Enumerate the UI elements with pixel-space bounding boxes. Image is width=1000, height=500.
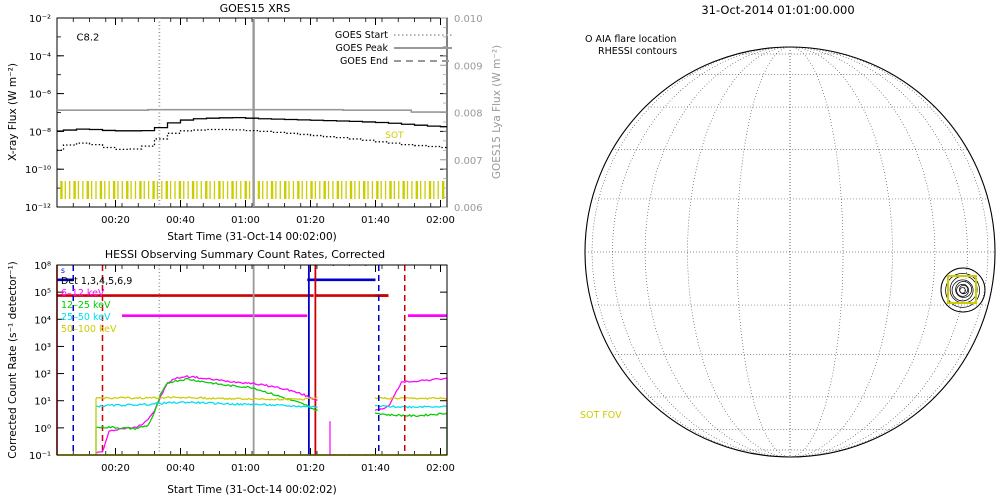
hessi-plot: HESSI Observing Summary Count Rates, Cor…: [0, 245, 510, 500]
sot-coverage-tick: [249, 181, 250, 199]
sot-coverage-tick: [438, 181, 439, 199]
sot-coverage-tick: [100, 181, 102, 199]
sot-coverage-tick: [240, 181, 241, 199]
sot-coverage-tick: [341, 181, 342, 199]
sot-coverage-tick: [363, 181, 365, 199]
hessi-data-gap: [318, 266, 375, 454]
sot-coverage-tick: [332, 181, 333, 199]
sot-coverage-tick: [148, 181, 149, 199]
goes-y-tick-label: 10⁻¹²: [25, 203, 51, 214]
hessi-y-axis-label: Corrected Count Rate (s⁻¹ detector⁻¹): [7, 261, 19, 459]
legend-label-goes-end: GOES End: [340, 56, 388, 67]
sot-coverage-tick: [227, 181, 228, 199]
hessi-x-tick-label: 01:00: [231, 463, 260, 474]
goes-y-tick-label: 10⁻¹⁰: [25, 165, 51, 176]
hessi-x-tick-label: 02:00: [426, 463, 455, 474]
sot-coverage-tick: [152, 181, 154, 199]
sot-coverage-tick: [69, 181, 70, 199]
sot-coverage-tick: [350, 181, 352, 199]
sot-coverage-tick: [201, 181, 202, 199]
sot-coverage-tick: [306, 181, 307, 199]
sot-coverage-tick: [214, 181, 215, 199]
goes-x-tick-label: 01:40: [361, 215, 390, 226]
sot-coverage-tick: [73, 181, 75, 199]
goes-x-tick-label: 00:40: [166, 215, 195, 226]
sot-coverage-tick: [315, 181, 316, 199]
sot-coverage-tick: [104, 181, 105, 199]
sot-coverage-tick: [262, 181, 263, 199]
sot-coverage-tick: [113, 181, 115, 199]
sot-coverage-tick: [297, 181, 299, 199]
sot-coverage-tick: [302, 181, 303, 199]
sot-coverage-tick: [402, 181, 404, 199]
sot-coverage-tick: [223, 181, 224, 199]
sot-coverage-tick: [293, 181, 294, 199]
sot-coverage-tick: [258, 181, 260, 199]
hessi-band-label-50-100: 50–100 keV: [61, 324, 117, 335]
sot-coverage-tick: [87, 181, 89, 199]
sot-coverage-tick: [179, 181, 181, 199]
sot-coverage-tick: [192, 181, 194, 199]
sot-coverage-tick: [275, 181, 276, 199]
rhessi-contours-annotation: RHESSI contours: [598, 46, 677, 57]
sot-coverage-tick: [196, 181, 197, 199]
goes-y-axis-label-right: GOES15 Lya Flux (W m⁻²): [491, 45, 503, 179]
legend-label-goes-peak: GOES Peak: [336, 43, 389, 54]
sot-coverage-tick: [130, 181, 131, 199]
hessi-y-tick-label: 10⁻¹: [29, 451, 51, 462]
hessi-x-tick-label: 00:20: [101, 463, 130, 474]
sot-coverage-tick: [139, 181, 141, 199]
hessi-count-rate-panel: HESSI Observing Summary Count Rates, Cor…: [0, 245, 510, 500]
sot-coverage-tick: [385, 181, 386, 199]
sot-coverage-tick: [144, 181, 145, 199]
goes-x-tick-label: 00:20: [101, 215, 130, 226]
sot-coverage-tick: [205, 181, 207, 199]
sot-coverage-tick: [424, 181, 425, 199]
goes-y-tick-label-right: 0.006: [454, 203, 483, 214]
sot-coverage-tick: [394, 181, 395, 199]
sot-coverage-tick: [122, 181, 123, 199]
sot-coverage-tick: [135, 181, 136, 199]
sot-coverage-tick: [91, 181, 92, 199]
sot-coverage-tick: [174, 181, 175, 199]
sot-coverage-tick: [420, 181, 421, 199]
sot-coverage-tick: [407, 181, 408, 199]
sot-coverage-tick: [337, 181, 339, 199]
hessi-band-label-12-25: 12–25 keV: [61, 300, 111, 311]
goes-y-tick-label: 10⁻²: [29, 14, 51, 25]
sot-coverage-tick: [266, 181, 267, 199]
sot-coverage-tick: [231, 181, 233, 199]
sot-coverage-tick: [187, 181, 188, 199]
sot-coverage-tick: [117, 181, 118, 199]
goes-y-tick-label-right: 0.010: [454, 14, 483, 25]
sot-coverage-tick: [372, 181, 373, 199]
solar-image-panel: 31-Oct-2014 01:01:00.000 O AIA flare loc…: [510, 0, 1000, 500]
aia-flare-location-annotation: O AIA flare location: [585, 34, 676, 45]
goes-y-tick-label-right: 0.008: [454, 109, 483, 120]
sot-coverage-tick: [398, 181, 399, 199]
goes-panel-title: GOES15 XRS: [220, 2, 291, 15]
sot-coverage-tick: [65, 181, 66, 199]
hessi-x-tick-label: 01:40: [361, 463, 390, 474]
goes-x-tick-label: 02:00: [426, 215, 455, 226]
goes-y-tick-label: 10⁻⁶: [29, 90, 51, 101]
sot-coverage-tick: [95, 181, 96, 199]
sot-coverage-tick: [126, 181, 128, 199]
sot-fov-label: SOT FOV: [580, 410, 622, 421]
sot-coverage-tick: [218, 181, 220, 199]
hessi-flag-label: s: [61, 266, 65, 275]
sot-coverage-tick: [209, 181, 210, 199]
sot-coverage-tick: [157, 181, 158, 199]
hessi-y-tick-label: 10¹: [34, 397, 51, 408]
sot-coverage-tick: [161, 181, 162, 199]
sot-coverage-tick: [183, 181, 184, 199]
hessi-y-tick-label: 10⁸: [34, 261, 51, 272]
hessi-x-tick-label: 00:40: [166, 463, 195, 474]
sot-coverage-tick: [345, 181, 346, 199]
sot-coverage-tick: [389, 181, 391, 199]
sot-coverage-tick: [328, 181, 329, 199]
sot-coverage-tick: [381, 181, 382, 199]
goes-x-tick-label: 01:00: [231, 215, 260, 226]
goes-xrs-plot: GOES15 XRS 10⁻²10⁻⁴10⁻⁶10⁻⁸10⁻¹⁰10⁻¹² 0.…: [0, 0, 510, 245]
sot-coverage-tick: [442, 181, 444, 199]
sot-coverage-tick: [78, 181, 79, 199]
sot-coverage-tick: [411, 181, 412, 199]
sot-coverage-tick: [170, 181, 171, 199]
goes-xrs-panel: GOES15 XRS 10⁻²10⁻⁴10⁻⁶10⁻⁸10⁻¹⁰10⁻¹² 0.…: [0, 0, 510, 245]
hessi-y-tick-label: 10³: [34, 342, 51, 353]
solar-plot-background: [510, 0, 1000, 500]
goes-x-tick-label: 01:20: [296, 215, 325, 226]
sot-coverage-tick: [376, 181, 378, 199]
sot-coverage-tick: [354, 181, 355, 199]
solar-disk-plot: 31-Oct-2014 01:01:00.000 O AIA flare loc…: [510, 0, 1000, 500]
sot-coverage-tick: [319, 181, 320, 199]
sot-coverage-tick: [359, 181, 360, 199]
flare-class-label: C8.2: [77, 33, 100, 44]
hessi-x-axis-label: Start Time (31-Oct-14 00:02:02): [167, 484, 336, 496]
hessi-x-tick-label: 01:20: [296, 463, 325, 474]
sot-coverage-tick: [310, 181, 312, 199]
sot-coverage-tick: [367, 181, 368, 199]
sot-coverage-tick: [271, 181, 273, 199]
sot-coverage-tick: [284, 181, 286, 199]
sot-coverage-tick: [288, 181, 289, 199]
sot-coverage-tick: [60, 181, 62, 199]
solar-image-title: 31-Oct-2014 01:01:00.000: [701, 3, 854, 17]
hessi-band-label-25-50: 25–50 keV: [61, 312, 111, 323]
legend-label-goes-start: GOES Start: [335, 30, 388, 41]
goes-x-axis-label: Start Time (31-Oct-14 00:02:00): [167, 231, 336, 243]
hessi-y-tick-label: 10²: [34, 370, 51, 381]
sot-marker-label: SOT: [385, 131, 404, 141]
sot-coverage-tick: [280, 181, 281, 199]
goes-y-tick-label: 10⁻⁸: [29, 127, 51, 138]
sot-coverage-tick: [166, 181, 168, 199]
hessi-y-tick-label: 10⁴: [34, 315, 51, 326]
sot-coverage-tick: [236, 181, 237, 199]
hessi-y-tick-label: 10⁰: [34, 424, 51, 435]
hessi-y-tick-label: 10⁵: [34, 288, 51, 299]
goes-y-tick-label: 10⁻⁴: [29, 52, 51, 63]
sot-coverage-tick: [416, 181, 418, 199]
hessi-band-label-6-12: 6–12 keV: [61, 288, 105, 299]
sot-coverage-tick: [82, 181, 83, 199]
sot-coverage-tick: [324, 181, 326, 199]
goes-y-axis-label: X-ray Flux (W m⁻²): [7, 63, 19, 161]
goes-y-tick-label-right: 0.009: [454, 61, 483, 72]
hessi-detector-label: Det 1,3,4,5,6,9: [61, 276, 132, 287]
sot-coverage-tick: [245, 181, 247, 199]
sot-coverage-tick: [429, 181, 431, 199]
goes-y-tick-label-right: 0.007: [454, 156, 483, 167]
hessi-panel-title: HESSI Observing Summary Count Rates, Cor…: [105, 248, 385, 261]
sot-coverage-tick: [433, 181, 434, 199]
sot-coverage-tick: [109, 181, 110, 199]
